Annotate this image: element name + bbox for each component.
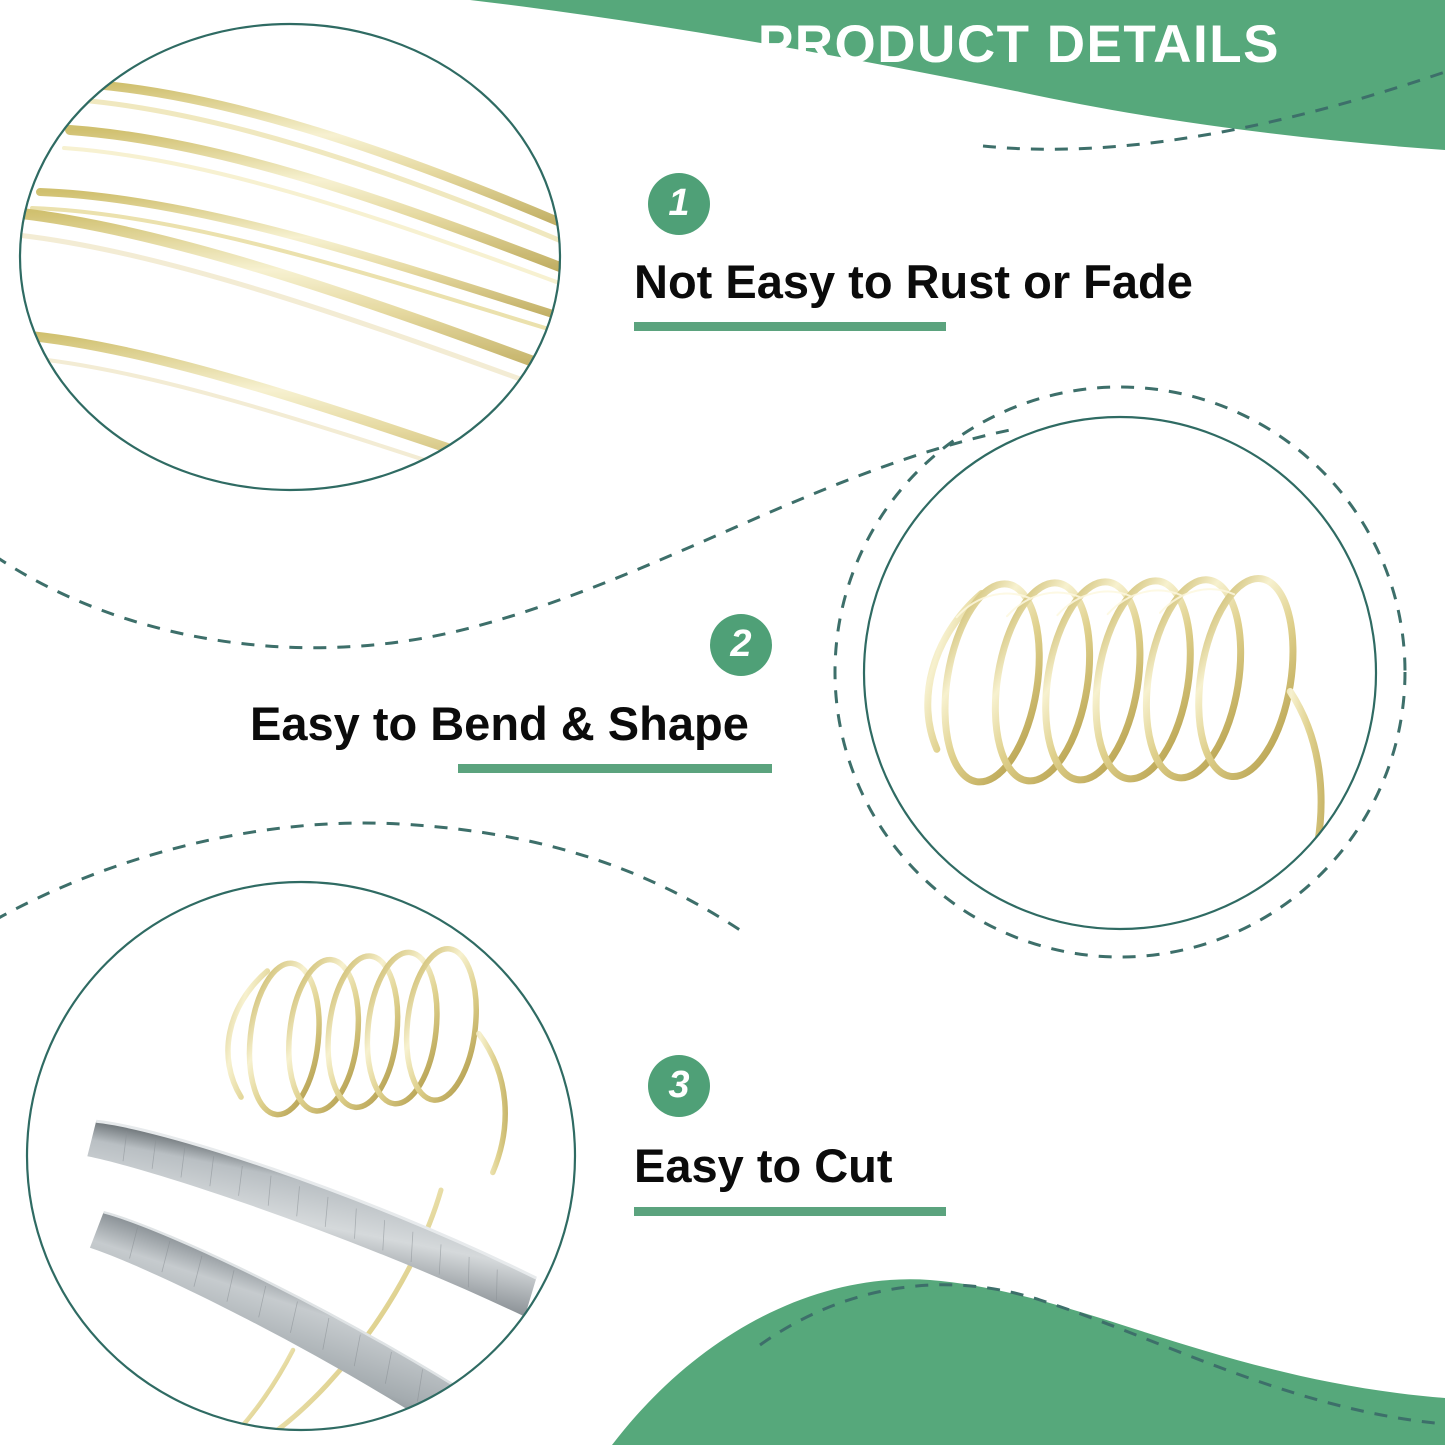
content-layer: PRODUCT DETAILS 1 Not Easy to Rust or Fa… bbox=[0, 0, 1445, 1445]
feature-number-badge-1: 1 bbox=[648, 173, 710, 235]
feature-number-badge-3: 3 bbox=[648, 1055, 710, 1117]
feature-title-1: Not Easy to Rust or Fade bbox=[634, 258, 1193, 305]
feature-title-3: Easy to Cut bbox=[634, 1142, 893, 1189]
page-title: PRODUCT DETAILS bbox=[600, 8, 1280, 80]
feature-rule-1 bbox=[634, 322, 946, 331]
feature-rule-2 bbox=[458, 764, 772, 773]
infographic-canvas: PRODUCT DETAILS 1 Not Easy to Rust or Fa… bbox=[0, 0, 1445, 1445]
feature-number-badge-2: 2 bbox=[710, 614, 772, 676]
feature-rule-3 bbox=[634, 1207, 946, 1216]
feature-title-2: Easy to Bend & Shape bbox=[250, 700, 749, 747]
